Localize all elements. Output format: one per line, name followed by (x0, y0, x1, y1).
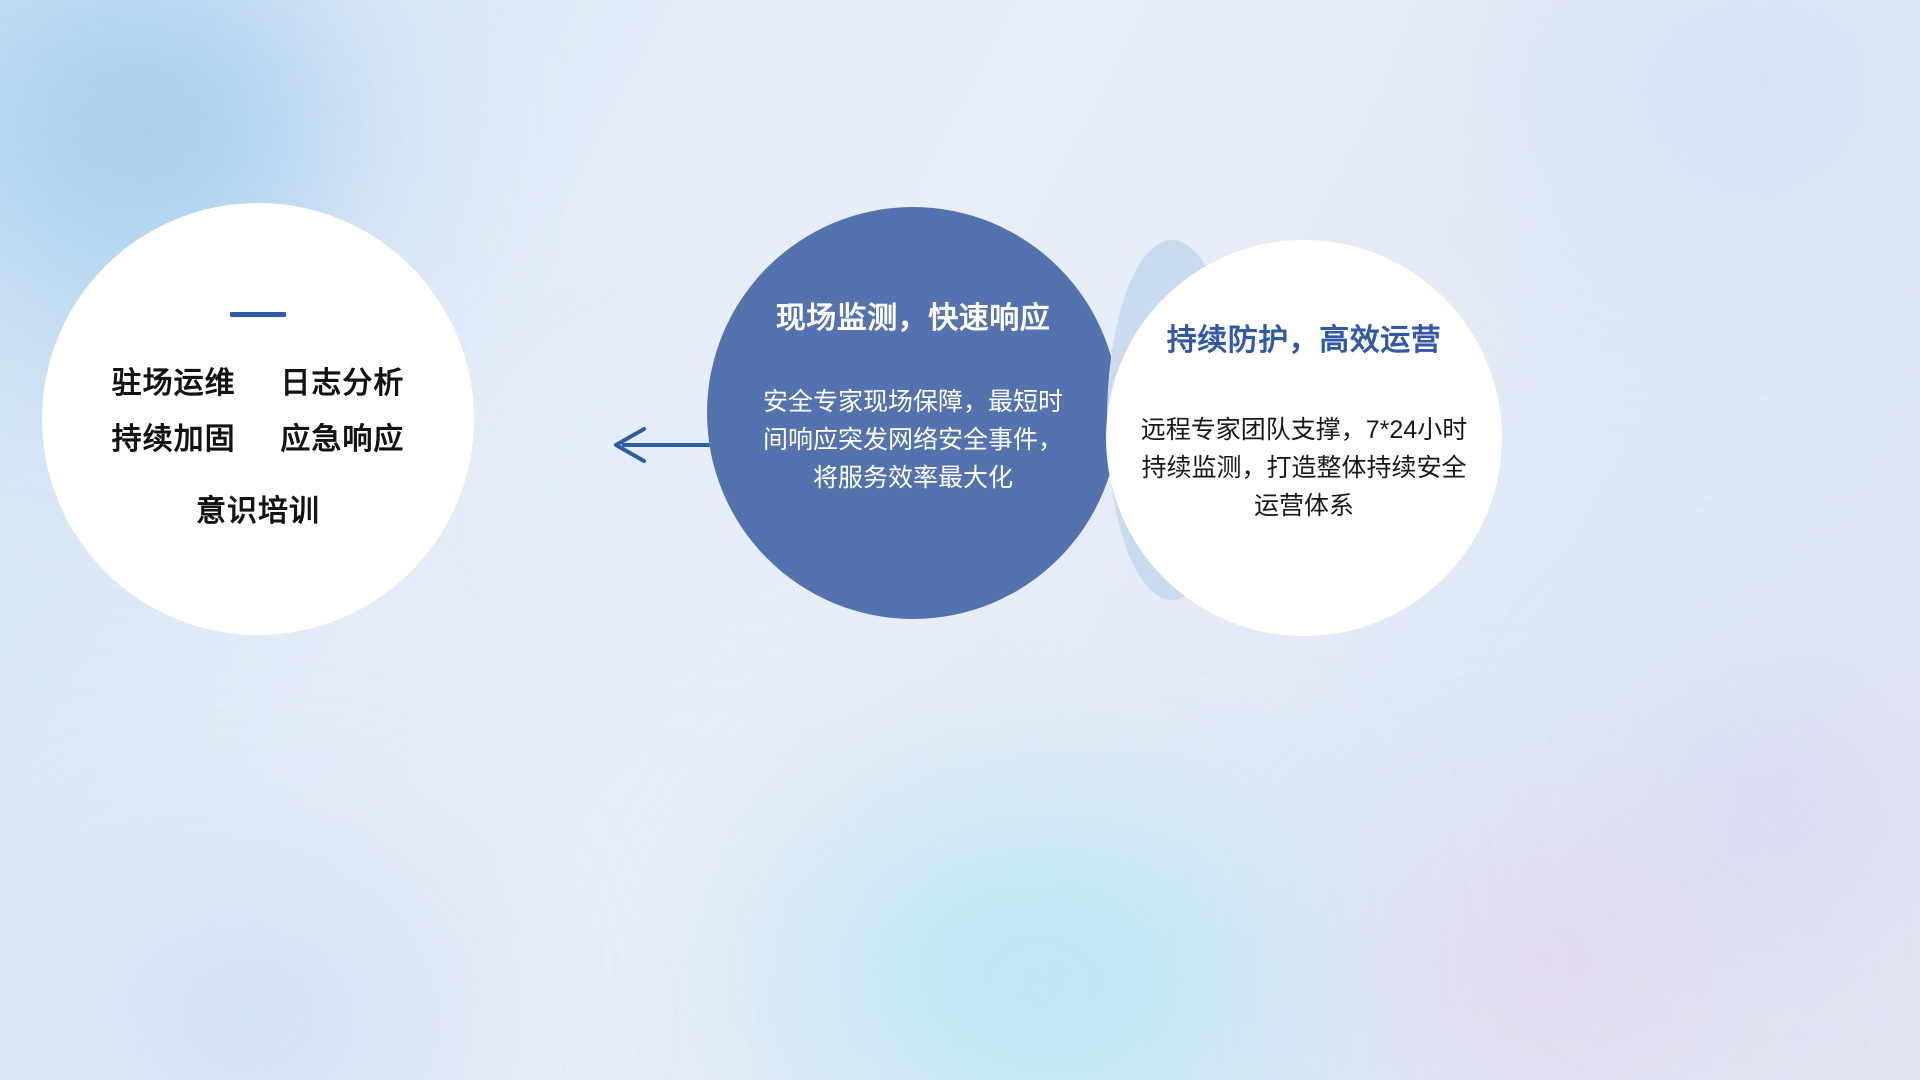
card-continuous-protection-body: 远程专家团队支撑，7*24小时持续监测，打造整体持续安全运营体系 (1139, 411, 1469, 525)
background-bloom-bottom-left (0, 740, 640, 1080)
card-service-keywords-content: 驻场运维 日志分析 持续加固 应急响应 意识培训 (42, 203, 474, 635)
keyword-continuous-hardening: 持续加固 (112, 423, 236, 456)
card-onsite-monitoring-content: 现场监测，快速响应 安全专家现场保障，最短时间响应突发网络安全事件，将服务效率最… (707, 207, 1119, 619)
card-continuous-protection[interactable]: 持续防护，高效运营 远程专家团队支撑，7*24小时持续监测，打造整体持续安全运营… (1106, 240, 1502, 636)
keyword-emergency-response: 应急响应 (280, 423, 404, 456)
background-bloom-cyan-core (760, 780, 1320, 1080)
accent-dash-icon (230, 312, 286, 317)
card-onsite-monitoring-title: 现场监测，快速响应 (776, 293, 1051, 337)
card-onsite-monitoring-body: 安全专家现场保障，最短时间响应突发网络安全事件，将服务效率最大化 (763, 383, 1063, 497)
background-bloom-pink (1220, 700, 1860, 1080)
card-service-keywords[interactable]: 驻场运维 日志分析 持续加固 应急响应 意识培训 (42, 203, 474, 635)
keyword-row-1: 驻场运维 日志分析 (112, 369, 405, 399)
slide-canvas: 现场监测，快速响应 安全专家现场保障，最短时间响应突发网络安全事件，将服务效率最… (0, 0, 1920, 1080)
card-continuous-protection-content: 持续防护，高效运营 远程专家团队支撑，7*24小时持续监测，打造整体持续安全运营… (1106, 240, 1502, 636)
background-bloom-cyan (540, 650, 1520, 1080)
keyword-row-2: 持续加固 应急响应 (112, 425, 405, 455)
keyword-row-3: 意识培训 (196, 497, 320, 527)
card-continuous-protection-title: 持续防护，高效运营 (1167, 315, 1442, 359)
keyword-awareness-training: 意识培训 (196, 495, 320, 528)
card-onsite-monitoring[interactable]: 现场监测，快速响应 安全专家现场保障，最短时间响应突发网络安全事件，将服务效率最… (707, 207, 1119, 619)
keyword-log-analysis: 日志分析 (280, 367, 404, 400)
keyword-onsite-ops: 驻场运维 (112, 367, 236, 400)
background-bloom-violet (1520, 580, 1920, 1040)
